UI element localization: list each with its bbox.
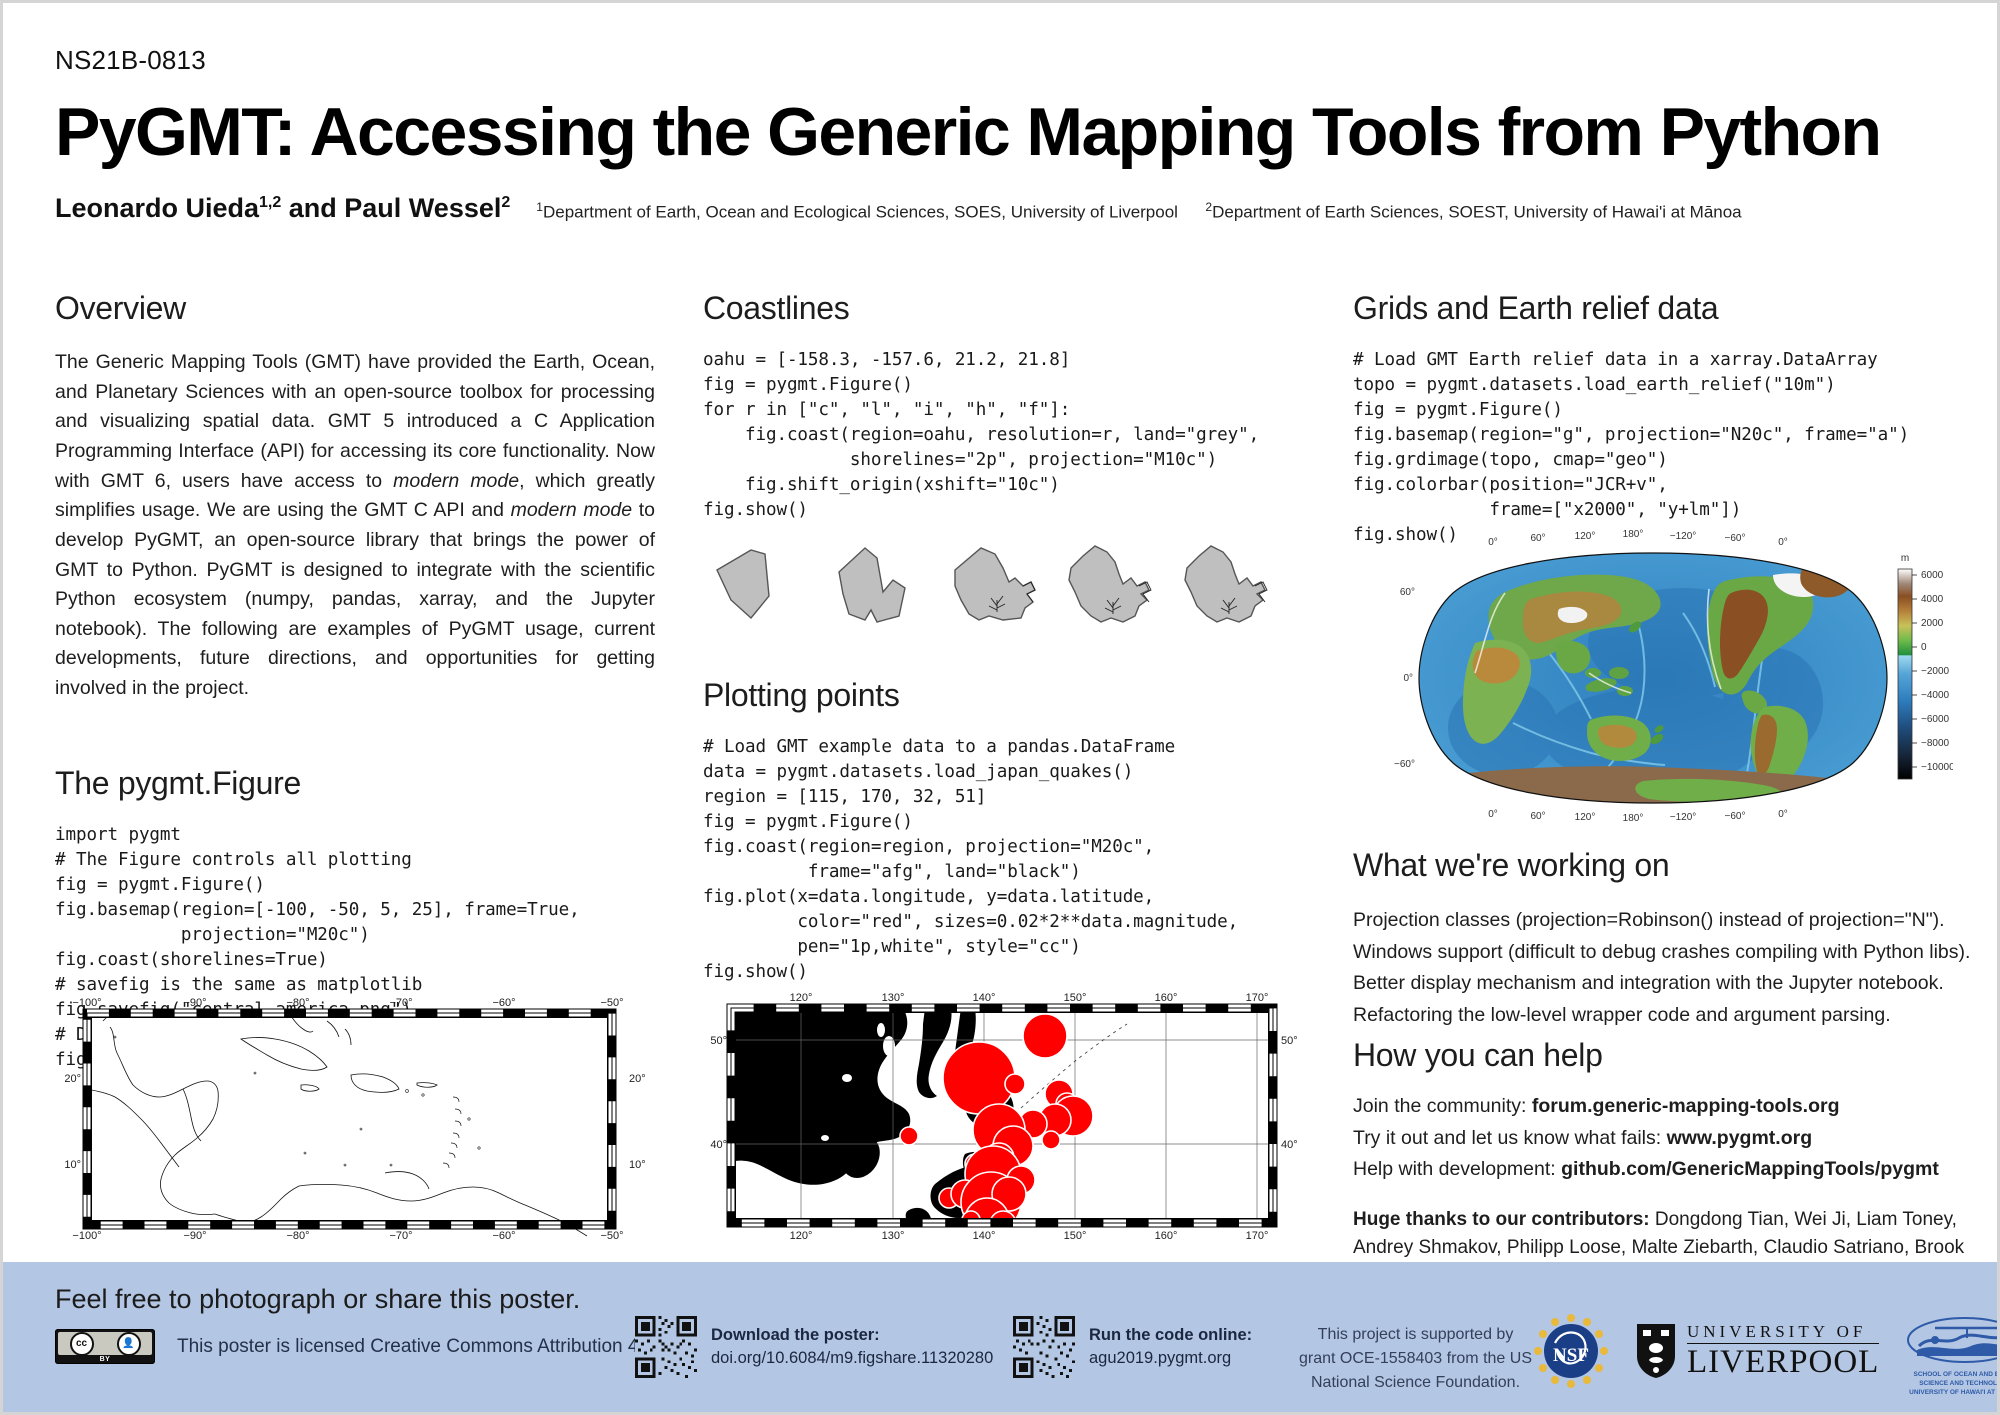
license-text: This poster is licensed Creative Commons…: [177, 1336, 660, 1358]
ca-map-xticks-top: −100° −90° −80° −70° −60° −50°: [72, 997, 623, 1009]
ca-map-plot-area: [87, 1013, 612, 1236]
soest-caption: SCHOOL OF OCEAN AND EARTH SCIENCE AND TE…: [1905, 1371, 2000, 1397]
working-on-item-1: Windows support (difficult to debug cras…: [1353, 937, 1953, 969]
svg-text:−60°: −60°: [1394, 759, 1415, 770]
svg-text:40°: 40°: [710, 1139, 727, 1151]
svg-text:160°: 160°: [1155, 992, 1178, 1004]
help-link-pygmt[interactable]: www.pygmt.org: [1667, 1127, 1813, 1149]
svg-text:−80°: −80°: [286, 1230, 309, 1242]
help-link-github[interactable]: github.com/GenericMappingTools/pygmt: [1561, 1158, 1939, 1180]
contributors-label: Huge thanks to our contributors:: [1353, 1209, 1650, 1230]
svg-text:4000: 4000: [1921, 594, 1944, 605]
column-middle: Coastlines oahu = [-158.3, -157.6, 21.2,…: [703, 291, 1318, 985]
help-label-community: Join the community:: [1353, 1095, 1526, 1117]
affiliation-2: Department of Earth Sciences, SOEST, Uni…: [1212, 202, 1742, 221]
sponsor-logos: NSF UNIVERSITY OF LIVERPOOL: [1533, 1313, 2000, 1389]
svg-text:−6000: −6000: [1921, 714, 1950, 725]
grant-acknowledgement: This project is supported by grant OCE-1…: [1298, 1323, 1533, 1395]
svg-text:−120°: −120°: [1670, 531, 1697, 542]
svg-text:6000: 6000: [1921, 570, 1944, 581]
section-heading-how-to-help: How you can help: [1353, 1038, 1973, 1073]
section-heading-coastlines: Coastlines: [703, 291, 1318, 326]
figure-central-america-map: −100° −90° −80° −70° −60° −50° −100° −90…: [55, 993, 655, 1243]
author-names: Leonardo Uieda1,2 and Paul Wessel2: [55, 193, 510, 224]
svg-text:−80°: −80°: [286, 997, 309, 1009]
world-map-globe: [1413, 548, 1898, 808]
jp-map-xticks-bottom: 120° 130° 140° 150° 160° 170°: [790, 1230, 1269, 1242]
working-on-list: Projection classes (projection=Robinson(…: [1353, 905, 1953, 1031]
svg-text:−50°: −50°: [600, 997, 623, 1009]
svg-text:−70°: −70°: [389, 1230, 412, 1242]
qr-code-download-icon[interactable]: [635, 1316, 697, 1378]
cc-by-label: BY: [55, 1356, 155, 1363]
license-row: cc 👤 BY This poster is licensed Creative…: [55, 1329, 660, 1364]
qr-download-title: Download the poster:: [711, 1326, 993, 1345]
svg-text:−60°: −60°: [492, 997, 515, 1009]
section-heading-working-on: What we're working on: [1353, 848, 1953, 883]
code-block-coastlines: oahu = [-158.3, -157.6, 21.2, 21.8] fig …: [703, 348, 1318, 523]
svg-text:−10000: −10000: [1921, 762, 1953, 773]
qr-download-url[interactable]: doi.org/10.6084/m9.figshare.11320280: [711, 1349, 993, 1368]
liverpool-label-top: UNIVERSITY OF: [1687, 1323, 1879, 1340]
section-how-to-help: How you can help Join the community: for…: [1353, 1038, 1973, 1289]
svg-text:0°: 0°: [1778, 809, 1788, 820]
svg-text:−50°: −50°: [600, 1230, 623, 1242]
help-line-community: Join the community: forum.generic-mappin…: [1353, 1091, 1973, 1123]
svg-text:0°: 0°: [1403, 673, 1413, 684]
qr-run-block[interactable]: Run the code online: agu2019.pygmt.org: [1013, 1316, 1252, 1378]
svg-text:−100°: −100°: [72, 1230, 101, 1242]
svg-text:60°: 60°: [1400, 587, 1415, 598]
share-text: Feel free to photograph or share this po…: [55, 1284, 660, 1315]
qr-run-title: Run the code online:: [1089, 1326, 1252, 1345]
svg-text:−60°: −60°: [1725, 811, 1746, 822]
svg-text:10°: 10°: [64, 1159, 81, 1171]
world-map-xticks-top: 0° 60° 120° 180° −120° −60° 0°: [1488, 529, 1788, 548]
code-block-plotting-points: # Load GMT example data to a pandas.Data…: [703, 735, 1318, 985]
svg-text:−4000: −4000: [1921, 690, 1950, 701]
liverpool-logo: UNIVERSITY OF LIVERPOOL: [1635, 1322, 1879, 1380]
code-block-grids: # Load GMT Earth relief data in a xarray…: [1353, 348, 1953, 548]
section-working-on: What we're working on Projection classes…: [1353, 848, 1953, 1032]
section-heading-pygmt-figure: The pygmt.Figure: [55, 766, 655, 801]
svg-text:0°: 0°: [1488, 809, 1498, 820]
footer-left-block: Feel free to photograph or share this po…: [55, 1284, 660, 1364]
section-heading-plotting-points: Plotting points: [703, 678, 1318, 713]
affiliations: 1Department of Earth, Ocean and Ecologic…: [536, 200, 1741, 223]
svg-text:0°: 0°: [1778, 537, 1788, 548]
svg-text:−8000: −8000: [1921, 738, 1950, 749]
qr-download-block[interactable]: Download the poster: doi.org/10.6084/m9.…: [635, 1316, 993, 1378]
cc-mark-icon: cc: [70, 1332, 94, 1356]
svg-text:40°: 40°: [1281, 1139, 1298, 1151]
svg-text:150°: 150°: [1064, 1230, 1087, 1242]
svg-text:20°: 20°: [629, 1073, 646, 1085]
soest-emblem-icon: [1905, 1316, 2000, 1364]
nsf-logo-icon: NSF: [1533, 1313, 1609, 1389]
svg-text:−120°: −120°: [1670, 812, 1697, 823]
svg-text:0°: 0°: [1488, 537, 1498, 548]
svg-text:150°: 150°: [1064, 992, 1087, 1004]
column-left: Overview The Generic Mapping Tools (GMT)…: [55, 291, 655, 1073]
help-line-tryout: Try it out and let us know what fails: w…: [1353, 1123, 1973, 1155]
qr-run-url[interactable]: agu2019.pygmt.org: [1089, 1349, 1252, 1368]
jp-map-xticks-top: 120° 130° 140° 150° 160° 170°: [790, 992, 1269, 1004]
soest-logo: SCHOOL OF OCEAN AND EARTH SCIENCE AND TE…: [1905, 1316, 2000, 1386]
svg-text:m: m: [1901, 553, 1909, 564]
oahu-shape-high: [1069, 546, 1149, 622]
svg-text:50°: 50°: [1281, 1035, 1298, 1047]
svg-text:120°: 120°: [1575, 531, 1596, 542]
svg-text:120°: 120°: [1575, 812, 1596, 823]
affiliation-1: Department of Earth, Ocean and Ecologica…: [543, 202, 1178, 221]
poster-canvas: NS21B-0813 PyGMT: Accessing the Generic …: [0, 0, 2000, 1415]
column-right: Grids and Earth relief data # Load GMT E…: [1353, 291, 1953, 548]
page-title: PyGMT: Accessing the Generic Mapping Too…: [55, 98, 1955, 167]
svg-text:120°: 120°: [790, 1230, 813, 1242]
help-links-list: Join the community: forum.generic-mappin…: [1353, 1091, 1973, 1186]
help-label-develop: Help with development:: [1353, 1158, 1556, 1180]
svg-text:−60°: −60°: [492, 1230, 515, 1242]
svg-text:20°: 20°: [64, 1073, 81, 1085]
creative-commons-icon: cc 👤 BY: [55, 1329, 155, 1364]
svg-text:140°: 140°: [973, 992, 996, 1004]
figure-japan-quakes-map: 120° 130° 140° 150° 160° 170° 120° 130° …: [703, 988, 1303, 1243]
abstract-id: NS21B-0813: [55, 45, 1955, 76]
svg-text:−100°: −100°: [72, 997, 101, 1009]
svg-text:50°: 50°: [710, 1035, 727, 1047]
oahu-shape-full: [1185, 546, 1265, 622]
liverpool-shield-icon: [1635, 1322, 1677, 1380]
figure-oahu-resolutions: [703, 528, 1318, 628]
svg-text:130°: 130°: [882, 992, 905, 1004]
cc-person-icon: 👤: [117, 1332, 141, 1356]
working-on-item-2: Better display mechanism and integration…: [1353, 968, 1953, 1000]
help-line-develop: Help with development: github.com/Generi…: [1353, 1154, 1973, 1186]
world-map-colorbar: m 6000 4000 2000 0: [1898, 553, 1953, 779]
working-on-item-0: Projection classes (projection=Robinson(…: [1353, 905, 1953, 937]
ca-map-xticks-bottom: −100° −90° −80° −70° −60° −50°: [72, 1230, 623, 1242]
svg-text:10°: 10°: [629, 1159, 646, 1171]
svg-text:60°: 60°: [1530, 811, 1545, 822]
world-map-colorbar-ticklabels: 6000 4000 2000 0 −2000 −4000 −6000 −8000…: [1921, 570, 1953, 773]
svg-text:170°: 170°: [1246, 992, 1269, 1004]
svg-text:−2000: −2000: [1921, 666, 1950, 677]
working-on-item-3: Refactoring the low-level wrapper code a…: [1353, 1000, 1953, 1032]
svg-text:130°: 130°: [882, 1230, 905, 1242]
nsf-label: NSF: [1553, 1345, 1589, 1366]
author-line: Leonardo Uieda1,2 and Paul Wessel2 1Depa…: [55, 193, 1955, 224]
oahu-shape-crude: [717, 550, 769, 618]
qr-code-run-icon[interactable]: [1013, 1316, 1075, 1378]
poster-header: NS21B-0813 PyGMT: Accessing the Generic …: [55, 45, 1955, 224]
help-link-forum[interactable]: forum.generic-mapping-tools.org: [1532, 1095, 1840, 1117]
svg-text:140°: 140°: [973, 1230, 996, 1242]
svg-text:0: 0: [1921, 642, 1927, 653]
svg-text:−60°: −60°: [1725, 533, 1746, 544]
world-map-xticks-bottom: 0° 60° 120° 180° −120° −60° 0°: [1488, 809, 1788, 823]
svg-text:60°: 60°: [1530, 533, 1545, 544]
help-label-tryout: Try it out and let us know what fails:: [1353, 1127, 1661, 1149]
oahu-shape-low: [839, 548, 905, 622]
section-heading-overview: Overview: [55, 291, 655, 326]
svg-text:180°: 180°: [1623, 529, 1644, 540]
svg-text:170°: 170°: [1246, 1230, 1269, 1242]
svg-text:−70°: −70°: [389, 997, 412, 1009]
jp-map-plot-area: [731, 1008, 1273, 1242]
svg-text:180°: 180°: [1623, 813, 1644, 823]
liverpool-label-bottom: LIVERPOOL: [1687, 1346, 1879, 1379]
overview-body: The Generic Mapping Tools (GMT) have pro…: [55, 348, 655, 704]
svg-text:−90°: −90°: [183, 1230, 206, 1242]
svg-text:120°: 120°: [790, 992, 813, 1004]
section-heading-grids: Grids and Earth relief data: [1353, 291, 1953, 326]
svg-text:160°: 160°: [1155, 1230, 1178, 1242]
svg-text:−90°: −90°: [183, 997, 206, 1009]
figure-earth-relief-map: 0° 60° 120° 180° −120° −60° 0° 0° 60° 12…: [1353, 523, 1953, 823]
svg-text:2000: 2000: [1921, 618, 1944, 629]
